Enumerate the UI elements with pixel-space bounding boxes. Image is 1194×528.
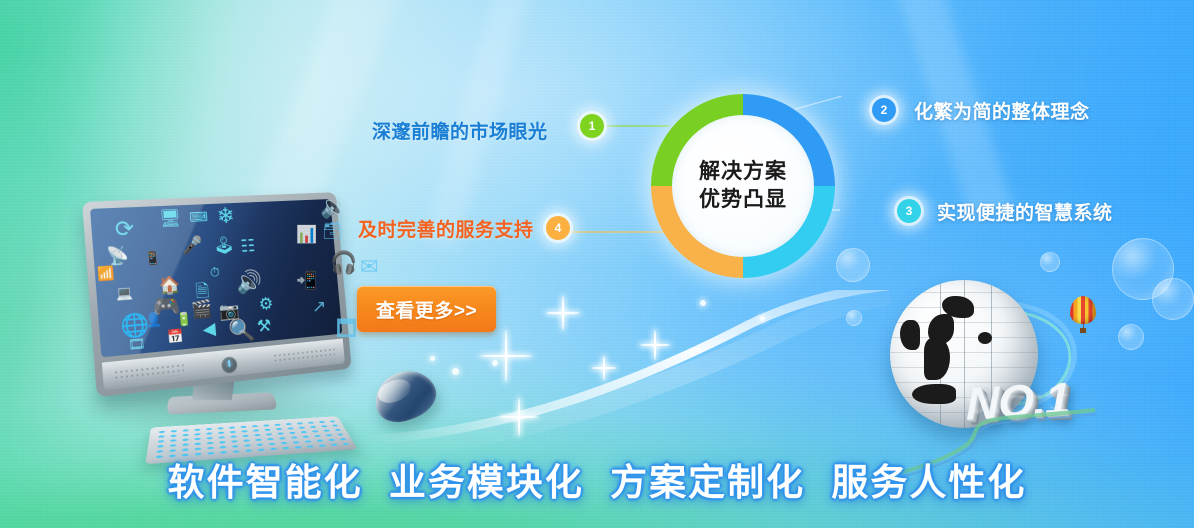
sparkle-dot xyxy=(700,300,706,306)
joystick-icon: 🕹 xyxy=(213,237,235,255)
expand-icon: ↗ xyxy=(312,298,326,315)
sparkle-dot xyxy=(492,360,498,366)
feature-badge-4[interactable]: 4 xyxy=(546,216,570,240)
feature-label-4: 及时完善的服务支持 xyxy=(358,215,534,242)
bottom-slogan: 软件智能化 业务模块化 方案定制化 服务人性化 xyxy=(0,452,1194,506)
slogan-part-3: 方案定制化 xyxy=(610,462,805,503)
bubble xyxy=(1152,278,1194,320)
film-icon: 🎞 xyxy=(128,336,146,351)
sparkle-dot xyxy=(430,356,435,361)
battery-icon: 🔋 xyxy=(175,312,192,327)
bubble xyxy=(1040,252,1060,272)
feature-label-1: 深邃前瞻的市场眼光 xyxy=(372,117,548,144)
refresh-icon: ⟳ xyxy=(114,217,135,241)
feature-label-2: 化繁为简的整体理念 xyxy=(914,97,1090,124)
tools-icon: ⚒ xyxy=(256,317,272,335)
globe-illustration: NO.1 NO.1 xyxy=(880,270,1100,480)
gear-icon: ⚙ xyxy=(258,295,274,313)
microphone-icon: 🎤 xyxy=(181,236,203,254)
bubble xyxy=(1118,324,1144,350)
headphones-icon: 🎧 xyxy=(330,252,357,274)
slogan-part-4: 服务人性化 xyxy=(831,462,1026,503)
gamepad-icon: 🎮 xyxy=(151,294,181,319)
calculator-icon: 🗎 xyxy=(195,282,210,300)
feature-label-3: 实现便捷的智慧系统 xyxy=(937,198,1113,225)
balloon-basket xyxy=(1080,328,1086,333)
donut-line-1: 解决方案 xyxy=(699,158,787,186)
calendar-icon: 📅 xyxy=(167,329,184,344)
network-icon: ☷ xyxy=(240,237,256,255)
feature-badge-1[interactable]: 1 xyxy=(580,114,604,138)
camera-icon: 📷 xyxy=(218,302,240,321)
hot-air-balloon-icon xyxy=(1070,296,1096,336)
clapperboard-icon: 🎬 xyxy=(190,300,212,319)
sparkle-dot xyxy=(452,368,459,375)
bubble xyxy=(846,310,862,326)
house-icon: 🏠 xyxy=(158,276,181,295)
contact-icon: 👤 xyxy=(145,312,163,327)
landmass xyxy=(978,332,992,344)
search-icon: 🔍 xyxy=(228,318,256,342)
slogan-part-2: 业务模块化 xyxy=(389,462,584,503)
sparkle-dot xyxy=(760,316,765,321)
speaker-vent xyxy=(113,363,184,383)
speaker-icon: 🔉 xyxy=(320,196,347,218)
feature-badge-2[interactable]: 2 xyxy=(872,98,896,122)
view-more-button[interactable]: 查看更多>> xyxy=(357,286,496,332)
antenna-icon: 📡 xyxy=(106,246,130,265)
monitor-body: ⟳ 🖥 ⌨ ❄ 📡 📶 📱 🎤 🕹 ☷ 💻 🏠 ⏱ 🗎 🔊 🎮 🎬 🔋 🌐 xyxy=(82,192,352,397)
mail-icon: ✉ xyxy=(360,256,378,278)
window-icon: 🗖 xyxy=(336,318,357,340)
donut-center-label: 解决方案 优势凸显 xyxy=(672,115,814,257)
balloon-envelope xyxy=(1070,296,1096,324)
slogan-part-1: 软件智能化 xyxy=(168,462,363,503)
globe-icon: 🌐 xyxy=(120,313,150,338)
monitor-icon: 🖥 xyxy=(159,209,182,227)
donut-line-2: 优势凸显 xyxy=(699,186,787,214)
wifi-icon: 📶 xyxy=(97,266,115,281)
promo-banner: ⟳ 🖥 ⌨ ❄ 📡 📶 📱 🎤 🕹 ☷ 💻 🏠 ⏱ 🗎 🔊 🎮 🎬 🔋 🌐 xyxy=(0,0,1194,528)
rank-text-reflection: NO.1 xyxy=(966,387,1069,420)
power-button-icon[interactable] xyxy=(221,356,238,374)
landmass xyxy=(912,384,956,404)
landmass xyxy=(900,320,920,350)
sd-card-icon: 🗃 xyxy=(322,222,344,239)
tablet-icon: 📲 xyxy=(296,272,317,289)
feature-badge-3[interactable]: 3 xyxy=(897,199,921,223)
laptop-icon: 💻 xyxy=(115,285,133,300)
bubble xyxy=(836,248,870,282)
play-icon: ◀ xyxy=(202,320,216,338)
speaker-vent xyxy=(273,347,336,365)
solution-donut-chart: 解决方案 优势凸显 xyxy=(645,88,841,284)
fan-icon: ❄ xyxy=(216,205,236,227)
chart-icon: 📊 xyxy=(296,226,317,243)
volume-icon: 🔊 xyxy=(235,270,263,294)
clock-icon: ⏱ xyxy=(209,265,220,279)
keyboard-icon: ⌨ xyxy=(189,210,208,224)
smartphone-icon: 📱 xyxy=(144,251,162,265)
